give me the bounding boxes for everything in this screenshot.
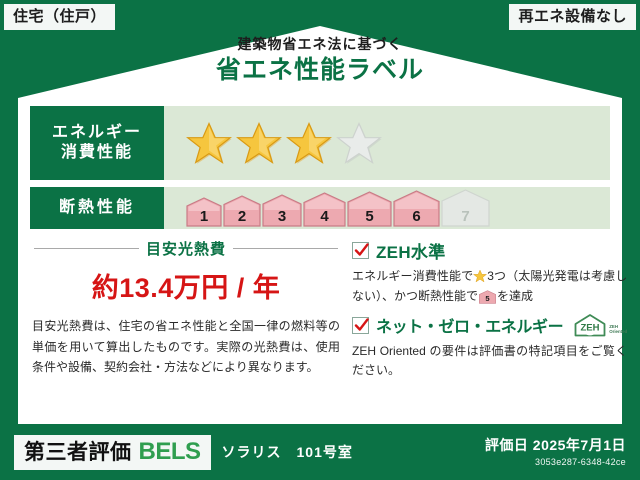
house-chip-label-2: 2 <box>238 208 246 225</box>
energy-performance-label: 住宅（住戸） 再エネ設備なし 建築物省エネ法に基づく 省エネ性能ラベル エネルギ… <box>0 0 640 480</box>
net-zero-energy-title: ネット・ゼロ・エネルギー <box>376 313 563 337</box>
energy-performance-row: エネルギー 消費性能 <box>30 106 610 180</box>
energy-label-line1: エネルギー <box>52 123 142 143</box>
house-chip-2: 2 <box>223 195 261 227</box>
zeh-badge: ZEH ZEH Oriented <box>573 313 627 338</box>
house-chip-label-7: 7 <box>461 208 469 225</box>
house-chip-5: 5 <box>347 191 392 227</box>
house-chip-4: 4 <box>303 192 346 227</box>
house-chip-label-6: 6 <box>412 208 420 225</box>
renewable-equipment-tag: 再エネ設備なし <box>509 4 636 30</box>
house-chip-1: 1 <box>186 197 222 227</box>
zeh-body-pre: エネルギー消費性能で <box>352 269 473 283</box>
bels-jp-label: 第三者評価 <box>24 442 132 463</box>
bels-en-label: BELS <box>139 440 201 464</box>
house-chip-label-5: 5 <box>365 208 373 225</box>
insulation-performance-label-box: 断熱性能 <box>30 187 164 229</box>
zeh-standard-title: ZEH水準 <box>376 238 446 263</box>
house-level-chips: 1 2 3 4 5 <box>186 189 490 227</box>
inline-star-icon <box>473 269 487 283</box>
zeh-house-icon: ZEH <box>573 313 607 338</box>
evaluation-id: 3053e287-6348-42ce <box>485 457 626 467</box>
net-zero-energy-item: ネット・ゼロ・エネルギー ZEH ZEH Oriented <box>352 313 627 382</box>
bels-badge: 第三者評価 BELS <box>14 435 211 470</box>
house-chip-label-1: 1 <box>200 208 208 225</box>
insulation-level-scale: 1 2 3 4 5 <box>164 187 610 229</box>
utility-cost-amount: 約13.4万円 / 年 <box>30 266 342 305</box>
net-zero-energy-head: ネット・ゼロ・エネルギー ZEH ZEH Oriented <box>352 313 627 338</box>
star-icon-empty-4 <box>336 120 382 166</box>
energy-performance-label-box: エネルギー 消費性能 <box>30 106 164 180</box>
check-icon <box>354 243 369 258</box>
zeh-standard-checkbox[interactable] <box>352 242 369 259</box>
utility-cost-note: 目安光熱費は、住宅の省エネ性能と全国一律の燃料等の単価を用いて算出したものです。… <box>30 316 342 378</box>
house-chip-label-4: 4 <box>320 208 328 225</box>
svg-text:5: 5 <box>485 294 489 303</box>
house-chip-3: 3 <box>262 194 302 227</box>
footer-right: 評価日 2025年7月1日 3053e287-6348-42ce <box>485 437 626 467</box>
energy-label-line2: 消費性能 <box>61 143 133 163</box>
check-icon <box>354 318 369 333</box>
footer-left: 第三者評価 BELS ソラリス 101号室 <box>14 435 353 470</box>
zeh-standard-head: ZEH水準 <box>352 238 627 263</box>
roof-shape <box>18 26 622 98</box>
star-icon-filled-2 <box>236 120 282 166</box>
energy-star-rating <box>164 106 610 180</box>
insulation-performance-row: 断熱性能 1 2 3 <box>30 187 610 229</box>
net-zero-energy-body: ZEH Oriented の要件は評価書の特記項目をご覧ください。 <box>352 342 627 382</box>
house-chip-7: 7 <box>441 189 490 227</box>
zeh-standard-item: ZEH水準 エネルギー消費性能で3つ（太陽光発電は考慮しない）、かつ断熱性能で5… <box>352 238 627 307</box>
house-chip-6: 6 <box>393 190 440 227</box>
utility-cost-column: 目安光熱費 約13.4万円 / 年 目安光熱費は、住宅の省エネ性能と全国一律の燃… <box>30 238 342 387</box>
zeh-column: ZEH水準 エネルギー消費性能で3つ（太陽光発電は考慮しない）、かつ断熱性能で5… <box>342 238 627 387</box>
lower-content: 目安光熱費 約13.4万円 / 年 目安光熱費は、住宅の省エネ性能と全国一律の燃… <box>30 238 610 387</box>
net-zero-energy-checkbox[interactable] <box>352 317 369 334</box>
inline-house-icon: 5 <box>479 290 496 304</box>
heading-rule-right <box>233 248 338 249</box>
heading-rule-left <box>34 248 139 249</box>
zeh-oriented-line2: Oriented <box>609 329 627 335</box>
house-chip-label-3: 3 <box>278 208 286 225</box>
zeh-oriented-caption: ZEH Oriented <box>609 324 627 338</box>
building-name: ソラリス 101号室 <box>222 442 353 462</box>
star-icon-filled-1 <box>186 120 232 166</box>
zeh-standard-body: エネルギー消費性能で3つ（太陽光発電は考慮しない）、かつ断熱性能で5を達成 <box>352 267 627 307</box>
star-icon-filled-3 <box>286 120 332 166</box>
main-panel: エネルギー 消費性能 <box>18 98 622 424</box>
evaluation-date: 評価日 2025年7月1日 <box>485 437 626 454</box>
building-type-tag: 住宅（住戸） <box>4 4 115 30</box>
utility-cost-heading-text: 目安光熱費 <box>146 238 226 259</box>
svg-text:ZEH: ZEH <box>581 322 600 333</box>
utility-cost-heading: 目安光熱費 <box>30 238 342 259</box>
footer-bar: 第三者評価 BELS ソラリス 101号室 評価日 2025年7月1日 3053… <box>0 424 640 480</box>
zeh-body-post: を達成 <box>497 289 533 303</box>
